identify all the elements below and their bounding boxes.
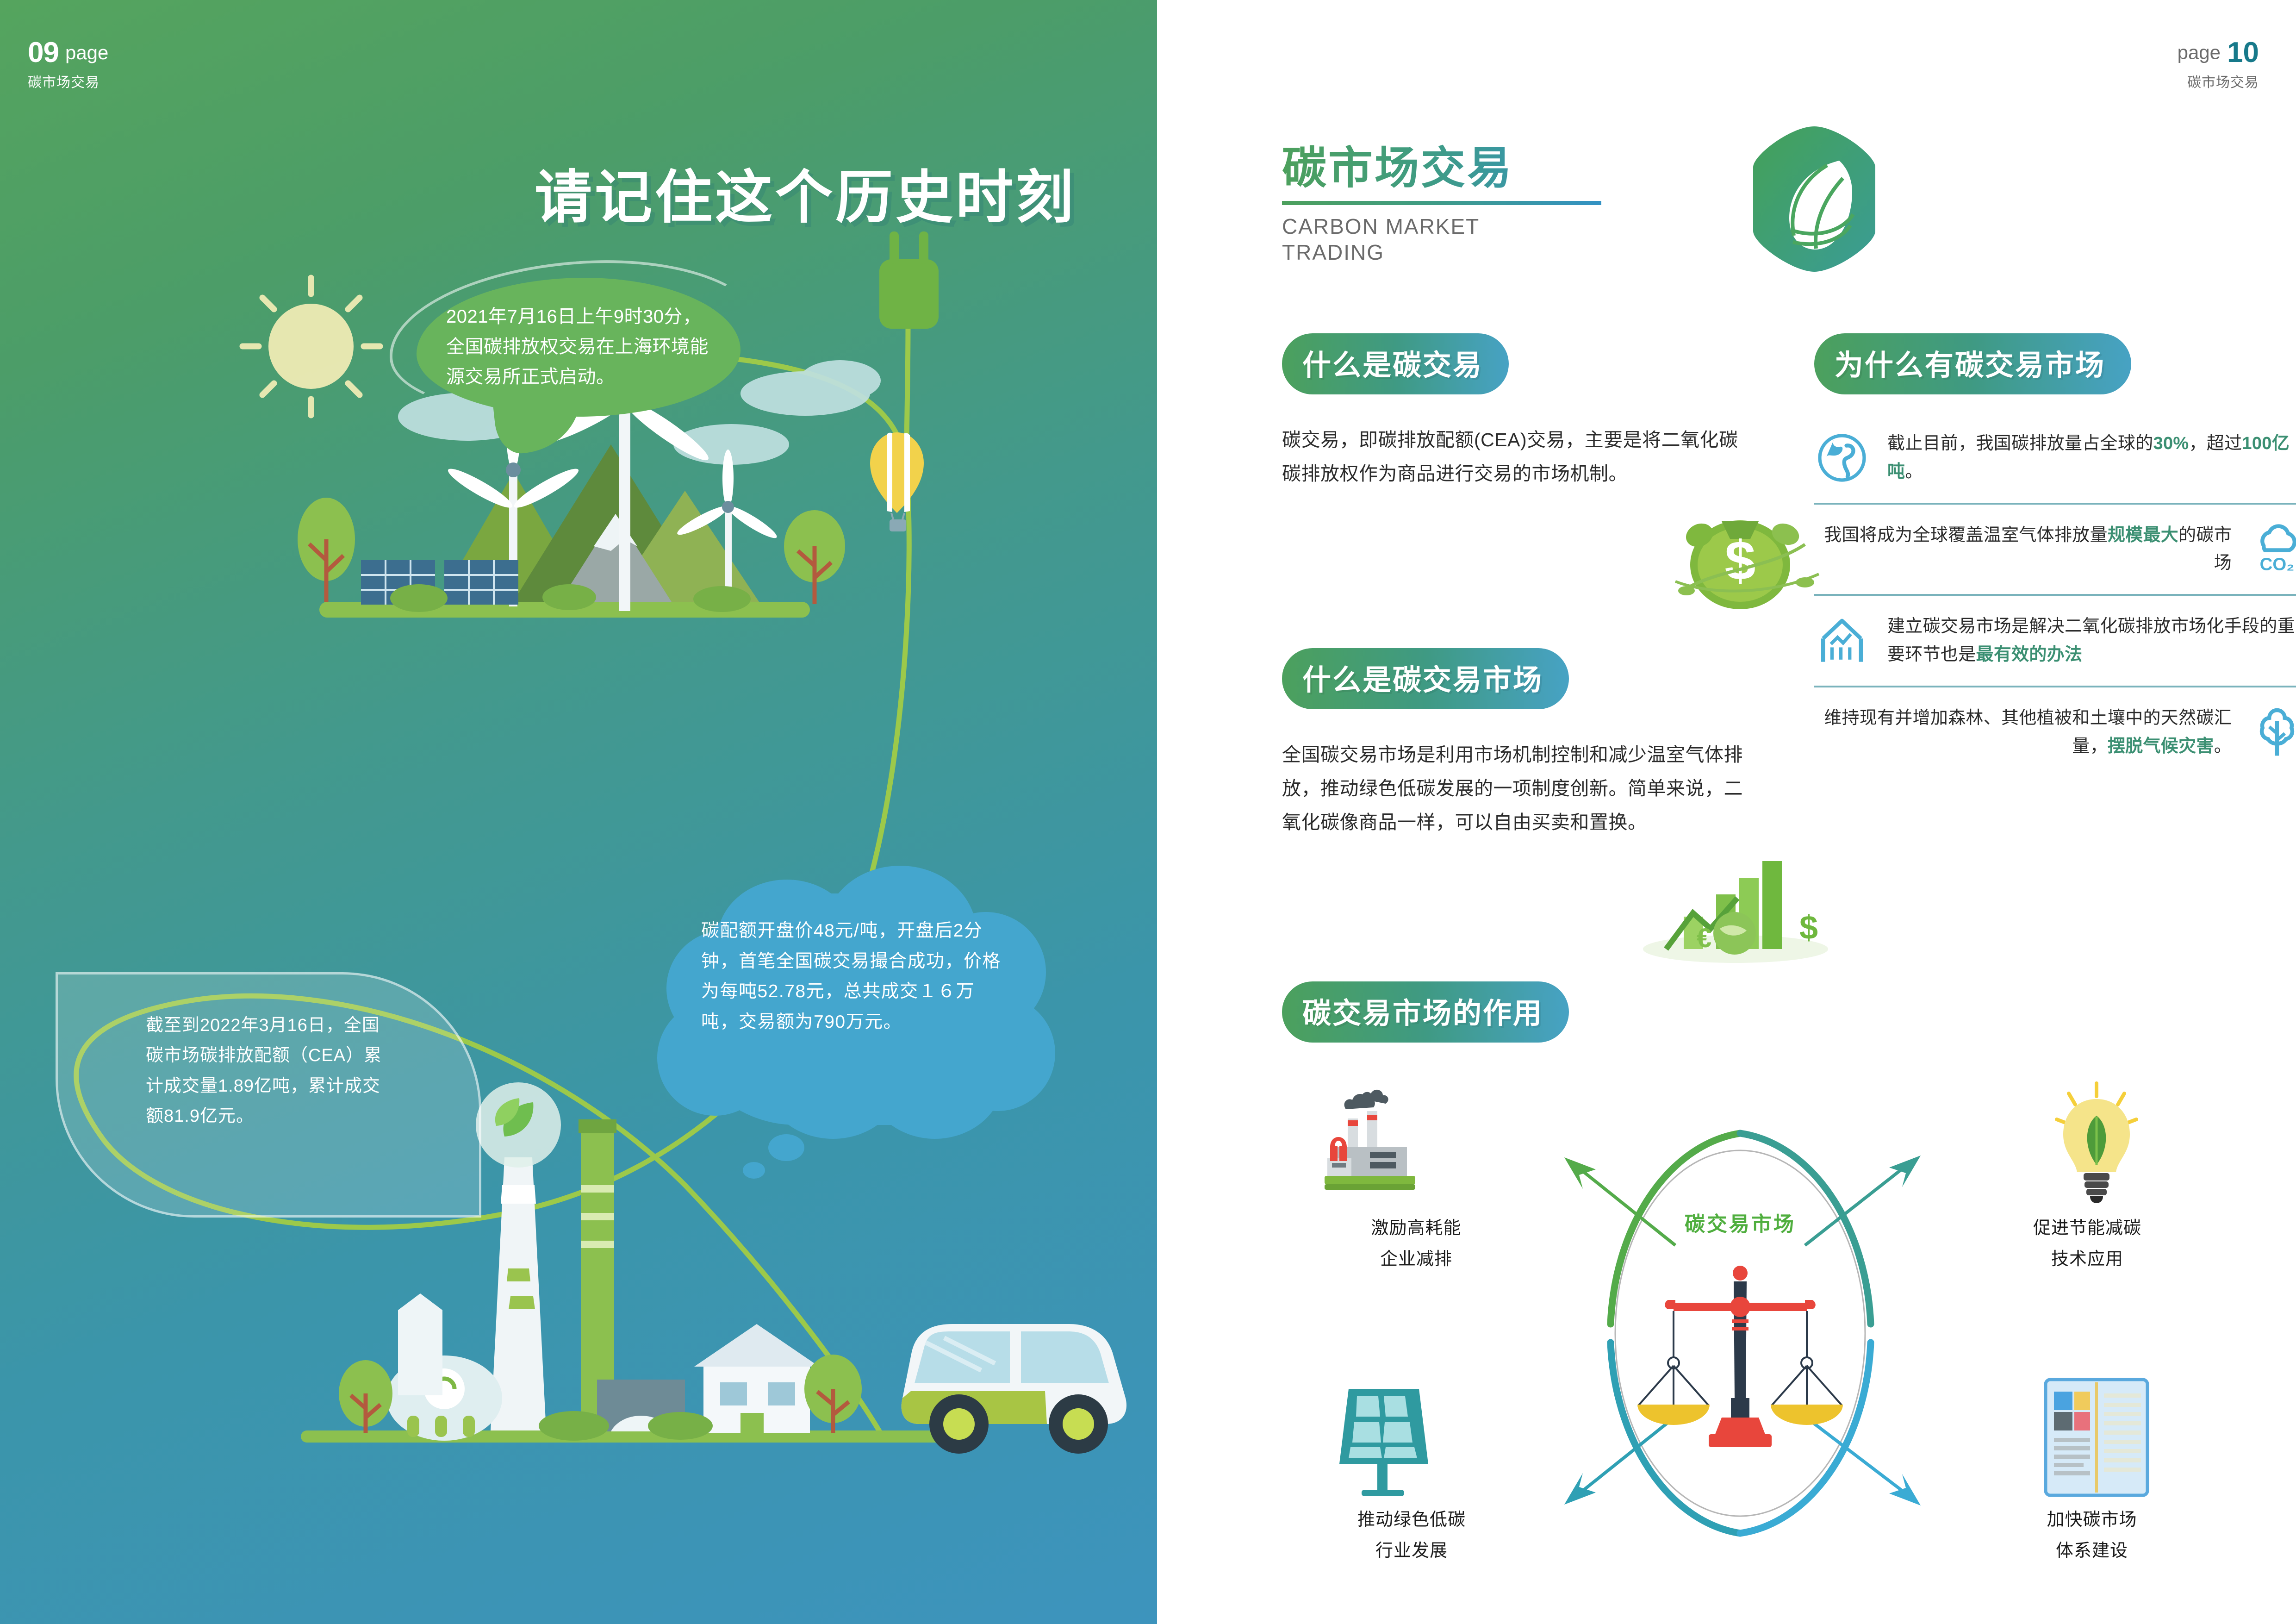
diagram-node-bottom-left: 推动绿色低碳 行业发展 [1314,1505,1509,1566]
fact-divider [1814,503,2296,505]
co2-cloud-icon: CO₂ [2249,521,2296,577]
fact-mid: 的碳市场 [2178,525,2232,573]
section-body: 碳交易，即碳排放配额(CEA)交易，主要是将二氧化碳碳排放权作为商品进行交易的市… [1282,423,1749,491]
leaf-hexagon-logo-icon [1745,123,1884,275]
svg-text:CO₂: CO₂ [2260,555,2295,575]
page-right: page10 碳市场交易 碳市场交易 CARBON MARKET TRADING [1157,0,2296,1624]
page-left: 09page 碳市场交易 请记住这个历史时刻 [0,0,1157,1624]
fact-text: 维持现有并增加森林、其他植被和土壤中的天然碳汇量，摆脱气候灾害。 [1814,704,2232,761]
electric-car-icon [902,1324,1126,1454]
fact-highlight-1: 最有效的办法 [1976,645,2083,664]
money-bag-plant-decoration: $ [1648,500,1833,616]
svg-text:$: $ [1725,530,1756,592]
bank-chart-icon [1814,613,1870,668]
fact-text: 截止目前，我国碳排放量占全球的30%，超过100亿吨。 [1887,430,2296,486]
left-illustration [0,0,1157,1624]
hot-air-balloon-icon [870,432,924,531]
diagram-node-top-left: 激励高耗能 企业减排 [1319,1213,1513,1274]
balance-scale-icon [1637,1266,1843,1447]
cloud-tail-large [768,1134,804,1161]
brand-block: 碳市场交易 CARBON MARKET TRADING [1282,132,1601,265]
cloud-tail-small [743,1162,765,1179]
fact-item: 截止目前，我国碳排放量占全球的30%，超过100亿吨。 [1814,418,2296,498]
diagram-node-top-right: 促进节能减碳 技术应用 [1990,1213,2184,1274]
node-label-line1: 激励高耗能 [1319,1213,1513,1244]
fact-highlight-1: 摆脱气候灾害 [2108,737,2214,756]
svg-text:$: $ [1799,909,1818,946]
diagram-center-label: 碳交易市场 [1685,1207,1796,1237]
fact-highlight-1: 规模最大 [2108,525,2178,545]
fact-text: 建立碳交易市场是解决二氧化碳排放市场化手段的重要环节也是最有效的办法 [1887,612,2296,669]
page-word: page [2178,42,2221,63]
section-what-is-carbon-market: 什么是碳交易市场 全国碳交易市场是利用市场机制控制和减少温室气体排放，推动绿色低… [1282,648,1749,839]
lightbulb-leaf-icon [2057,1083,2136,1203]
section-heading: 碳交易市场的作用 [1282,981,1569,1043]
section-heading: 什么是碳交易 [1282,333,1509,394]
node-label-line2: 企业减排 [1319,1244,1513,1275]
node-label-line2: 技术应用 [1990,1244,2184,1275]
node-label-line1: 促进节能减碳 [1990,1213,2184,1244]
section-market-role: 碳交易市场的作用 [1282,981,1569,1043]
magazine-spread: 09page 碳市场交易 请记住这个历史时刻 [0,0,2296,1624]
node-label-line1: 推动绿色低碳 [1314,1505,1509,1536]
page-subtitle: 碳市场交易 [2178,71,2259,91]
svg-text:€: € [1697,923,1711,953]
node-label-line2: 行业发展 [1314,1536,1509,1567]
fact-item: 建立碳交易市场是解决二氧化碳排放市场化手段的重要环节也是最有效的办法 [1814,600,2296,681]
cloud-bubble-price: 碳配额开盘价48元/吨，开盘后2分钟，首笔全国碳交易撮合成功，价格为每吨52.7… [648,861,1055,1153]
fact-highlight-1: 30% [2153,434,2189,453]
node-label-line2: 体系建设 [1995,1536,2189,1567]
brand-title-en-line2: TRADING [1282,239,1601,265]
page-number: 10 [2227,37,2259,69]
speech-bubble-launch-text: 2021年7月16日上午9时30分，全国碳排放权交易在上海环境能源交易所正式启动… [446,302,714,392]
fact-pre: 我国将成为全球覆盖温室气体排放量 [1824,525,2108,545]
fact-item: 我国将成为全球覆盖温室气体排放量规模最大的碳市场 CO₂ [1814,509,2296,590]
fact-post: 。 [2214,737,2232,756]
node-label-line1: 加快碳市场 [1995,1505,2189,1536]
section-why-carbon-market: 为什么有碳交易市场 截止目前，我国碳排放量占全球的30%，超过100亿吨。 我国… [1814,333,2296,772]
brand-rule [1282,201,1601,205]
section-heading: 为什么有碳交易市场 [1814,333,2131,394]
page-header-right: page10 碳市场交易 [2178,36,2259,91]
fact-item: 维持现有并增加森林、其他植被和土壤中的天然碳汇量，摆脱气候灾害。 [1814,692,2296,773]
open-book-icon [2046,1380,2147,1495]
tree-icon [2249,705,2296,760]
leaf-bubble-cumulative-text: 截至到2022年3月16日，全国碳市场碳排放配额（CEA）累计成交量1.89亿吨… [146,1011,396,1131]
section-what-is-carbon-trading: 什么是碳交易 碳交易，即碳排放配额(CEA)交易，主要是将二氧化碳碳排放权作为商… [1282,333,1749,491]
leaf-bubble-cumulative: 截至到2022年3月16日，全国碳市场碳排放配额（CEA）累计成交量1.89亿吨… [56,972,481,1218]
section-heading: 什么是碳交易市场 [1282,648,1569,709]
green-growth-chart-decoration: $ € [1638,843,1833,968]
solar-panel-icon [1339,1389,1428,1496]
diagram-node-bottom-right: 加快碳市场 体系建设 [1995,1505,2189,1566]
fact-pre: 截止目前，我国碳排放量占全球的 [1887,434,2153,453]
brand-title-cn: 碳市场交易 [1282,132,1601,196]
sun-icon [243,278,380,415]
fact-divider [1814,686,2296,687]
fact-pre: 建立碳交易市场是解决二氧化碳排放市场化手段的重要环节也是 [1887,617,2295,664]
market-role-diagram: 碳交易市场 激励高耗能 企业减排 促进节能减碳 技术应用 推动绿色低碳 行业发展… [1287,1074,2194,1597]
section-body: 全国碳交易市场是利用市场机制控制和减少温室气体排放，推动绿色低碳发展的一项制度创… [1282,738,1749,839]
fact-divider [1814,594,2296,596]
cloud-bubble-price-text: 碳配额开盘价48元/吨，开盘后2分钟，首笔全国碳交易撮合成功，价格为每吨52.7… [701,916,1007,1037]
factory-icon [1325,1090,1415,1190]
brand-title-en-line1: CARBON MARKET [1282,213,1601,239]
globe-icon [1814,430,1870,486]
fact-post: 。 [1905,462,1923,481]
fact-mid: ，超过 [2189,434,2242,453]
fact-text: 我国将成为全球覆盖温室气体排放量规模最大的碳市场 [1814,521,2232,578]
